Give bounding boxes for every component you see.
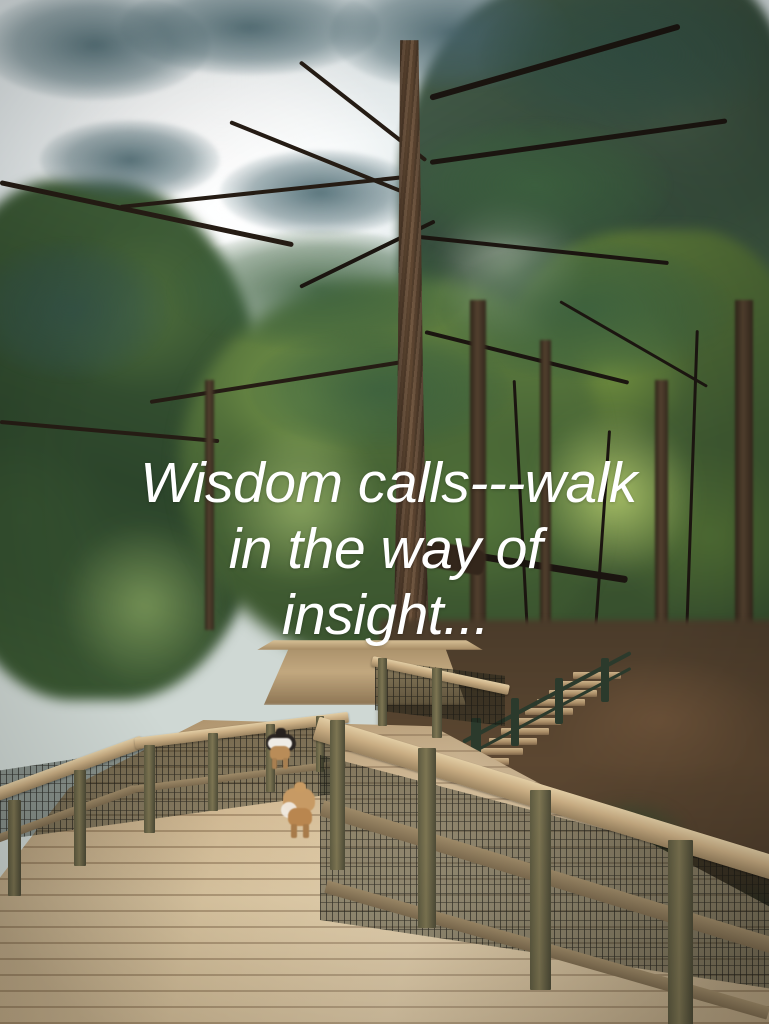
stair-baluster [601,658,609,702]
left-railing-post [74,770,86,866]
left-railing-post [208,733,218,811]
right-railing-post [330,720,345,870]
stair-baluster [555,678,563,724]
quote-line-1: Wisdom calls---walk [0,450,769,516]
dog-leg [291,824,297,838]
right-railing-post [530,790,551,990]
dog-leg [272,758,277,769]
stair-baluster [511,698,519,746]
dog-head [294,782,306,792]
right-railing-post [418,748,436,928]
dog-leg [303,824,309,838]
dog-black-and-white [262,728,300,770]
pine-bough [40,120,220,200]
dog-tan-and-white [278,784,322,840]
left-railing-post [8,800,21,896]
pine-bough [400,120,670,250]
dog-head [276,728,286,737]
right-railing-far-post [432,668,442,738]
quote-line-2: in the way of [0,516,769,582]
right-railing-far-post [378,658,387,726]
quote-line-3: insight... [0,582,769,648]
quote-overlay: Wisdom calls---walk in the way of insigh… [0,450,769,648]
left-railing-post [144,745,155,833]
right-railing-post [668,840,693,1024]
photo-canvas: Wisdom calls---walk in the way of insigh… [0,0,769,1024]
dog-leg [283,758,288,769]
